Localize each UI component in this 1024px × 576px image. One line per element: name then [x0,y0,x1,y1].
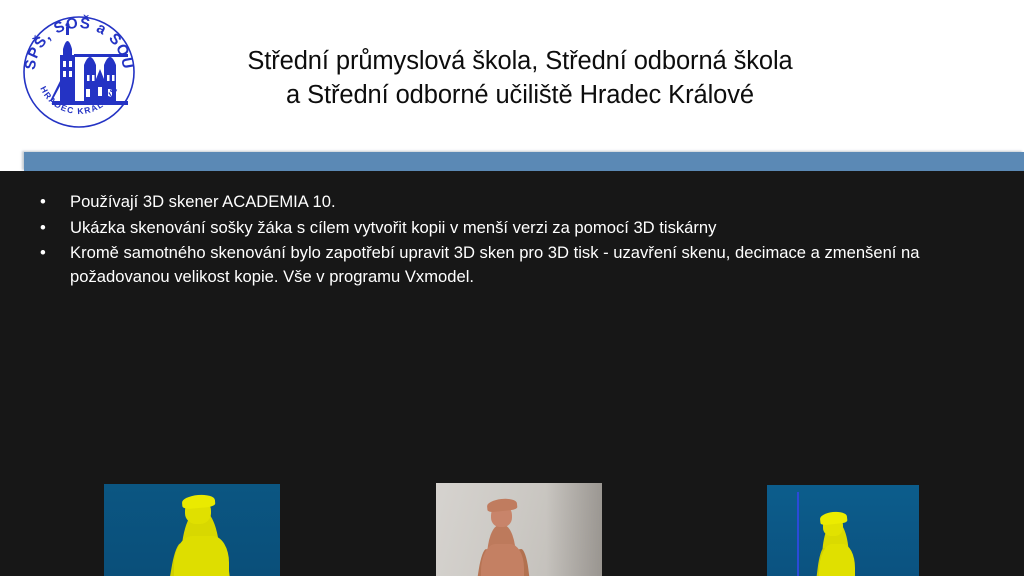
page-title-line-2: a Střední odborné učiliště Hradec Králov… [170,78,870,112]
image-statue-photo [436,483,602,576]
image-3d-scan-side [767,485,919,576]
list-item: • Ukázka skenování sošky žáka s cílem vy… [0,216,1024,240]
slide-header: SPŠ, SOŠ a SOU HRADEC KRÁLOVÉ Střední pr… [0,0,1024,152]
school-logo: SPŠ, SOŠ a SOU HRADEC KRÁLOVÉ [16,9,142,135]
presentation-slide: SPŠ, SOŠ a SOU HRADEC KRÁLOVÉ Střední pr… [0,0,1024,576]
list-item: • Používají 3D skener ACADEMIA 10. [0,190,1024,214]
image-3d-scan-perspective [104,484,280,576]
bullet-text: Používají 3D skener ACADEMIA 10. [70,190,994,214]
photo-wall-shadow [546,483,602,576]
bullet-text: Kromě samotného skenování bylo zapotřebí… [70,241,994,288]
model-torso [174,536,229,576]
model-torso [819,544,855,576]
bullet-list: • Používají 3D skener ACADEMIA 10. • Uká… [0,171,1024,290]
page-title: Střední průmyslová škola, Střední odborn… [170,44,870,112]
photo-background [436,483,602,576]
bullet-marker-icon: • [40,190,46,214]
bullet-text: Ukázka skenování sošky žáka s cílem vytv… [70,216,994,240]
statue-torso [481,544,524,576]
slide-body: • Používají 3D skener ACADEMIA 10. • Uká… [0,171,1024,576]
accent-band [24,152,1024,171]
page-title-line-1: Střední průmyslová škola, Střední odborn… [170,44,870,78]
list-item: • Kromě samotného skenování bylo zapotře… [0,241,1024,288]
bullet-marker-icon: • [40,241,46,265]
axis-z-line [797,492,799,576]
bullet-marker-icon: • [40,216,46,240]
